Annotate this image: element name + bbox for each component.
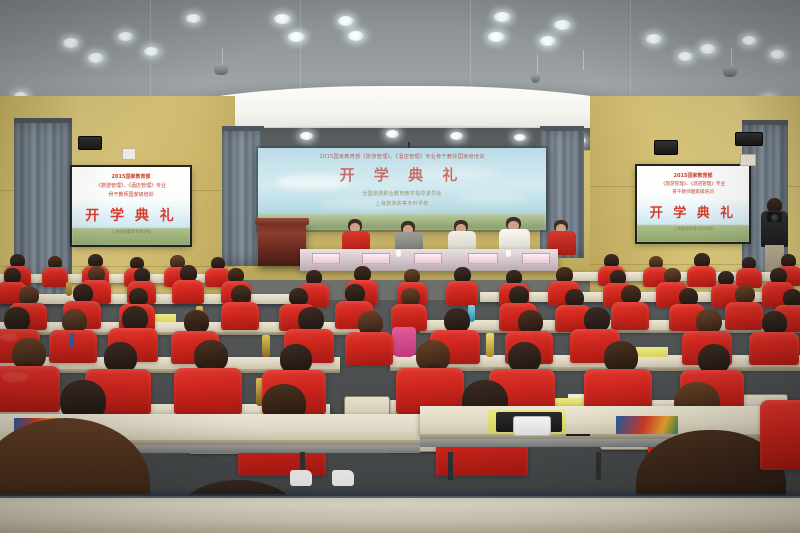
wall-speaker-right-2 xyxy=(735,132,763,146)
front-desk-trim xyxy=(0,494,800,498)
camera-lens-icon xyxy=(771,214,779,222)
ceiling-sensor-left xyxy=(214,64,228,75)
right-display-line-1: 2015国家教育部 xyxy=(637,172,749,179)
wall-panel-left xyxy=(122,148,136,160)
ceiling-sensor-right xyxy=(723,66,737,77)
left-wall-display[interactable]: 2015国家教育部 《旅游管理》、《酒店管理》专业 骨干教师国家级培训 开 学 … xyxy=(72,167,190,245)
wall-speaker-right xyxy=(654,140,678,155)
right-display-line-2: 《旅游管理》、《酒店管理》专业 xyxy=(637,181,749,187)
lecture-hall-photo: 2015国家教育部《旅游管理》、《酒店管理》专业骨干教师国家级培训 开 学 典 … xyxy=(0,0,800,533)
right-display-title: 开 学 典 礼 xyxy=(637,202,749,221)
pen xyxy=(566,434,590,436)
tablet-device[interactable] xyxy=(513,416,551,436)
shoe xyxy=(290,470,312,486)
left-display-line-3: 骨干教师国家级培训 xyxy=(72,191,190,198)
right-wall-display[interactable]: 2015国家教育部 《旅游管理》、《酒店管理》专业 骨干教师国家级培训 开 学 … xyxy=(637,166,749,242)
left-display-footer: 上海旅游高等专科学校 xyxy=(72,229,190,235)
ceiling-sensor-mid xyxy=(531,74,540,83)
screen-footer-line-2: 上海旅游高等专科学校 xyxy=(258,200,546,207)
screen-footer-line-1: 全国旅游职业教育教学指导委员会 xyxy=(258,190,546,197)
right-display-footer: 上海旅游高等专科学校 xyxy=(637,226,749,232)
wall-speaker-left xyxy=(78,136,102,150)
right-display-line-3: 骨干教师国家级培训 xyxy=(637,189,749,195)
brochure xyxy=(616,416,678,434)
left-display-title: 开 学 典 礼 xyxy=(72,205,190,225)
screen-title: 开 学 典 礼 xyxy=(258,164,546,185)
wall-notice-right xyxy=(740,154,756,166)
front-desk-edge xyxy=(0,496,800,533)
left-display-line-1: 2015国家教育部 xyxy=(72,173,190,180)
screen-header-line: 2015国家教育部《旅游管理》、《酒店管理》专业骨干教师国家级培训 xyxy=(258,153,546,160)
shoe xyxy=(332,470,354,486)
left-display-line-2: 《旅游管理》、《酒店管理》专业 xyxy=(72,182,190,189)
